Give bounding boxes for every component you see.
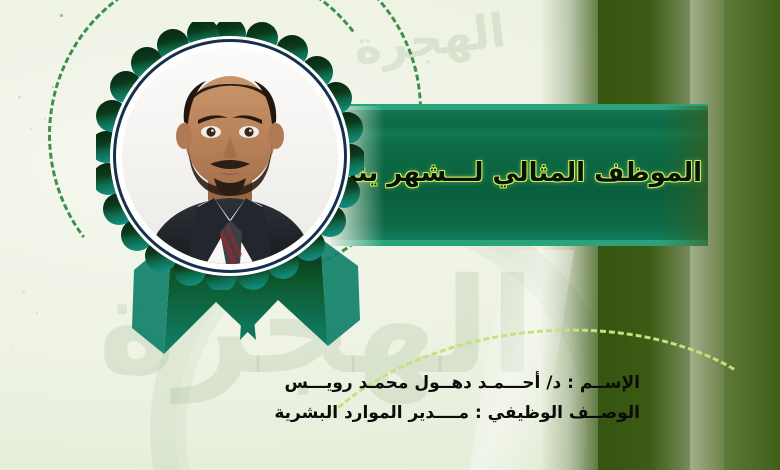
- employee-job-line: الوصــف الوظيفي : مــــدير الموارد البشر…: [300, 398, 640, 428]
- speck: [18, 96, 21, 99]
- poster-title: الموظف المثالي لـــشهر ينايـــر 2025: [336, 150, 702, 196]
- poster-canvas: hijra foundation for charity الهجرة الهج…: [0, 0, 780, 470]
- employee-name-value: د/ أحـــمـد دهــول محمـد رويـــس: [285, 373, 562, 393]
- employee-name-label: الإســم :: [567, 373, 640, 393]
- speck: [44, 118, 46, 120]
- speck: [10, 345, 12, 347]
- speck: [30, 128, 32, 130]
- speck: [22, 290, 25, 293]
- employee-job-value: مــــدير الموارد البشرية: [274, 403, 469, 423]
- employee-job-label: الوصــف الوظيفي :: [475, 403, 640, 423]
- title-band-top-edge: [330, 104, 708, 110]
- speck: [36, 312, 38, 314]
- portrait-photo: [122, 48, 338, 264]
- employee-info: الإســم : د/ أحـــمـد دهــول محمـد رويــ…: [300, 368, 640, 428]
- title-band-bottom-edge: [330, 240, 708, 246]
- speck: [60, 14, 63, 17]
- speck: [52, 86, 54, 88]
- employee-name-line: الإســم : د/ أحـــمـد دهــول محمـد رويــ…: [300, 368, 640, 398]
